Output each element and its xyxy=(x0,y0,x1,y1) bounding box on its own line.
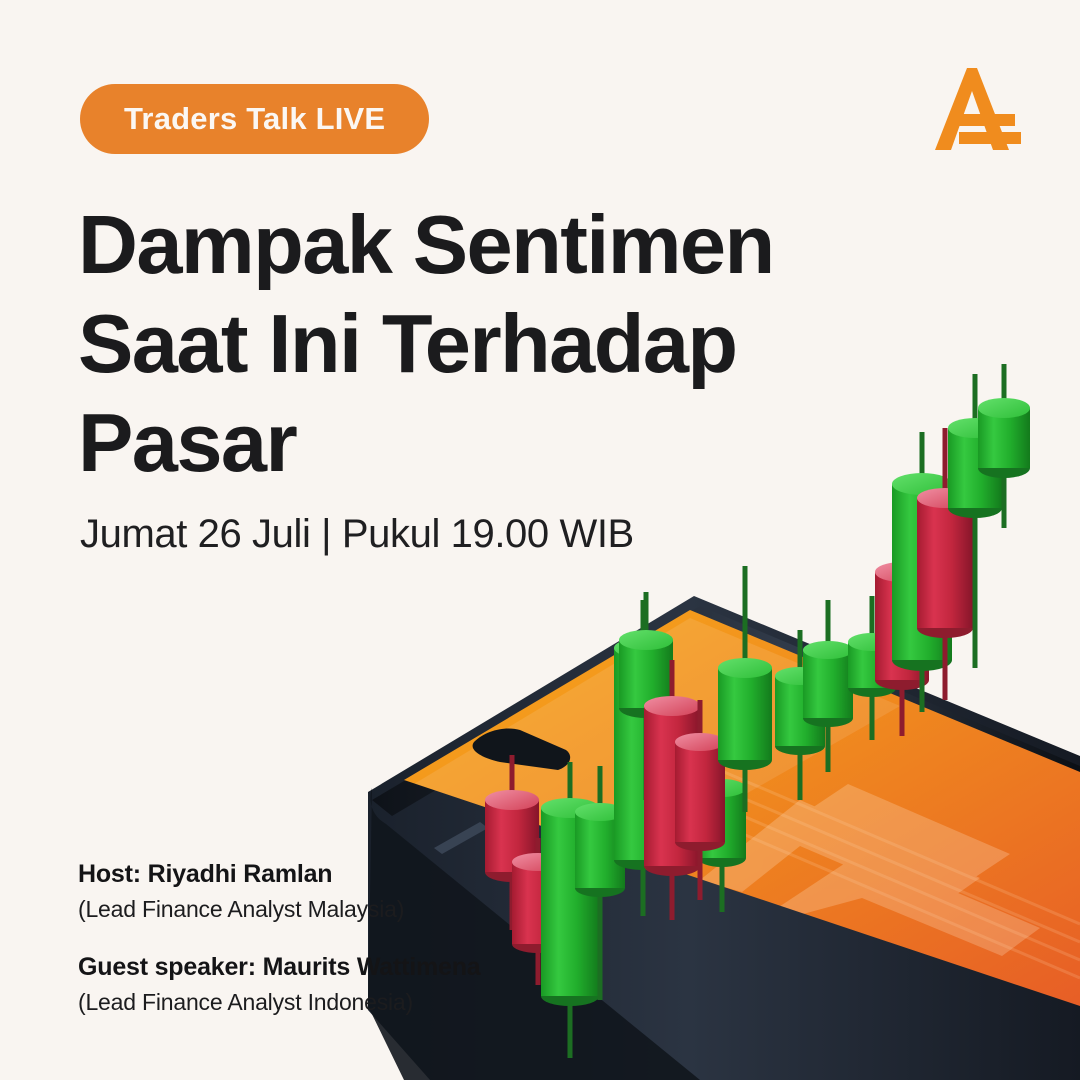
guest-name: Guest speaker: Maurits Wattimena xyxy=(78,951,618,983)
guest-role: (Lead Finance Analyst Indonesia) xyxy=(78,987,618,1018)
candle-bearish-7 xyxy=(644,660,700,920)
candle-bullish-8 xyxy=(698,742,746,912)
ajaib-a-logo-icon xyxy=(917,58,1025,166)
headline-line-3: Pasar xyxy=(78,394,798,493)
candle-bullish-17 xyxy=(948,374,1002,668)
candle-bullish-10 xyxy=(718,566,772,812)
promo-poster: Traders Talk LIVE Dampak Sentimen Saat I… xyxy=(0,0,1080,1080)
candle-bullish-6 xyxy=(619,592,673,800)
candle-bearish-16 xyxy=(917,428,973,700)
candle-bullish-5 xyxy=(614,600,672,916)
headline-line-1: Dampak Sentimen xyxy=(78,196,798,295)
candle-bullish-15 xyxy=(892,432,952,712)
screen-watermark-logo-icon xyxy=(700,784,1040,956)
candle-bullish-18 xyxy=(978,364,1030,528)
speaker-credits: Host: Riyadhi Ramlan (Lead Finance Analy… xyxy=(78,858,618,1018)
page-title: Dampak Sentimen Saat Ini Terhadap Pasar xyxy=(78,196,798,492)
host-credit: Host: Riyadhi Ramlan (Lead Finance Analy… xyxy=(78,858,618,925)
live-badge-label: Traders Talk LIVE xyxy=(124,101,385,137)
host-role: (Lead Finance Analyst Malaysia) xyxy=(78,894,618,925)
event-datetime: Jumat 26 Juli | Pukul 19.00 WIB xyxy=(80,512,634,557)
guest-credit: Guest speaker: Maurits Wattimena (Lead F… xyxy=(78,951,618,1018)
phone-notch xyxy=(473,729,571,771)
candle-bullish-11 xyxy=(775,630,825,800)
candle-bearish-14 xyxy=(875,528,929,736)
candle-bullish-12 xyxy=(803,600,853,772)
candle-bearish-9 xyxy=(675,700,725,900)
host-name: Host: Riyadhi Ramlan xyxy=(78,858,618,890)
live-badge[interactable]: Traders Talk LIVE xyxy=(80,84,429,154)
phone-side-button xyxy=(434,822,488,854)
headline-line-2: Saat Ini Terhadap xyxy=(78,295,798,394)
candle-bullish-13 xyxy=(848,596,896,740)
